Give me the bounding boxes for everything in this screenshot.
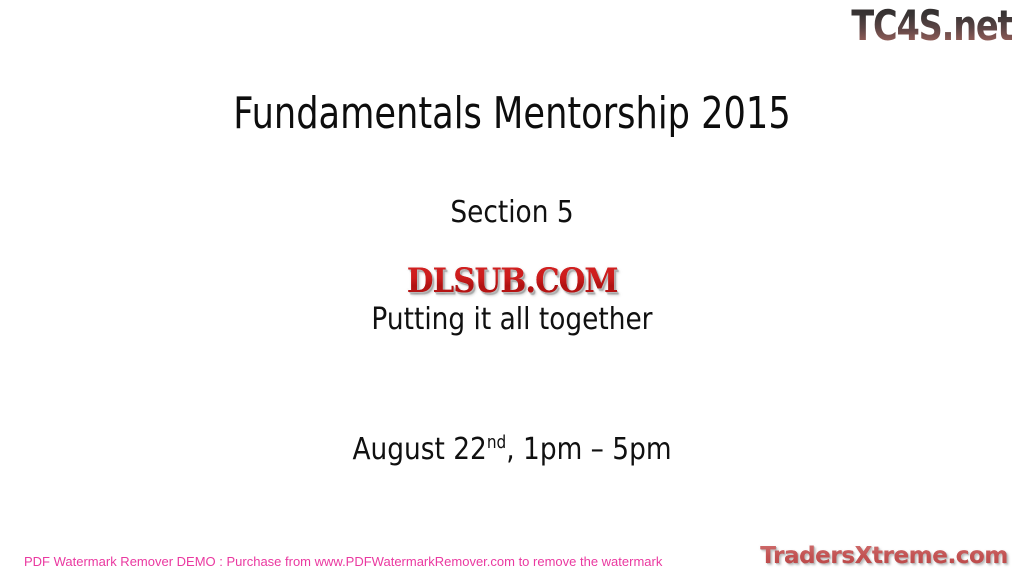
tradersxtreme-logo-text-outline: TradersXtreme.com [760, 542, 1008, 570]
tradersxtreme-logo-outline: TradersXtreme.com [760, 542, 1008, 570]
slide-datetime: August 22nd, 1pm – 5pm [61, 430, 962, 470]
datetime-prefix: August 22 [352, 432, 486, 467]
slide-subtitle: Section 5 [61, 193, 962, 233]
tradersxtreme-logo: TradersXtreme.com [760, 542, 1008, 570]
page-title: Fundamentals Mentorship 2015 [102, 88, 921, 140]
dlsub-watermark-text: DLSUB.COM [407, 262, 618, 301]
datetime-ordinal: nd [487, 433, 506, 453]
tradersxtreme-logo-text: TradersXtreme.com [760, 542, 1008, 570]
datetime-suffix: , 1pm – 5pm [506, 432, 671, 467]
slide-tagline: Putting it all together [61, 300, 962, 340]
tc4s-logo: TC4S.net [851, 2, 1012, 50]
dlsub-watermark: DLSUB.COM [0, 262, 1024, 300]
pdf-watermark-notice: PDF Watermark Remover DEMO : Purchase fr… [24, 553, 662, 570]
dlsub-watermark-outline: DLSUB.COM [0, 262, 1024, 300]
presentation-slide: TC4S.net Fundamentals Mentorship 2015 Se… [0, 0, 1024, 576]
dlsub-watermark-text-outline: DLSUB.COM [407, 262, 618, 301]
